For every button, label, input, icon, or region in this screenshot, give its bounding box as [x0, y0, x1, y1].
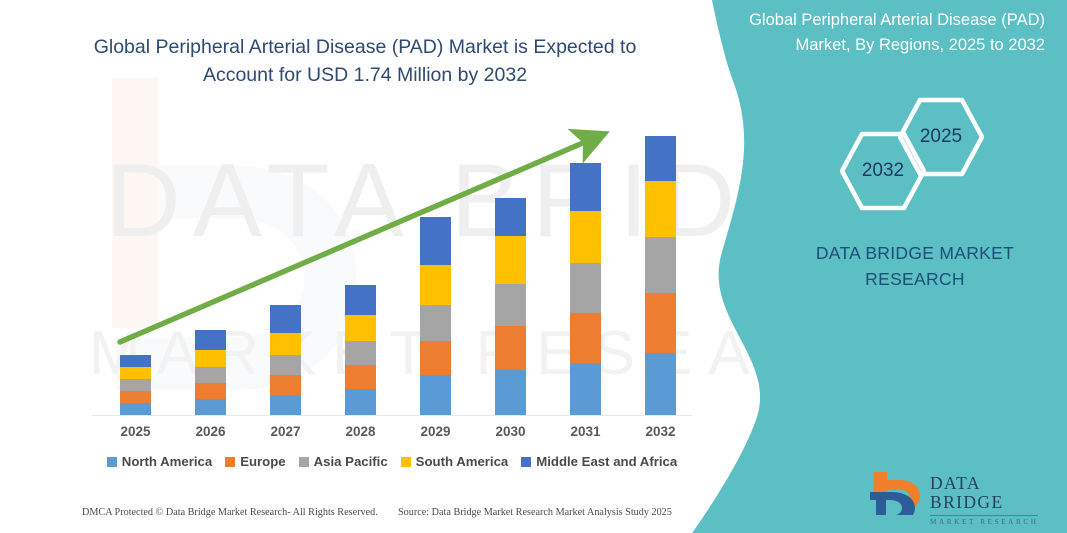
legend-label: Middle East and Africa — [536, 454, 677, 469]
x-axis-label-2029: 2029 — [406, 424, 466, 439]
legend-swatch-icon — [107, 457, 117, 467]
legend-item[interactable]: Middle East and Africa — [521, 454, 677, 469]
x-axis-label-2027: 2027 — [256, 424, 316, 439]
footer-source: Source: Data Bridge Market Research Mark… — [398, 507, 672, 518]
legend-label: North America — [122, 454, 212, 469]
logo-subtitle: MARKET RESEARCH — [930, 518, 1043, 526]
growth-arrow — [92, 115, 692, 415]
legend-swatch-icon — [225, 457, 235, 467]
legend-item[interactable]: North America — [107, 454, 212, 469]
hexagon-2025: 2025 — [898, 97, 984, 177]
legend-item[interactable]: Europe — [225, 454, 285, 469]
legend-label: Asia Pacific — [314, 454, 388, 469]
data-bridge-logo: DATA BRIDGE MARKET RESEARCH — [868, 470, 1043, 518]
logo-divider — [930, 515, 1038, 516]
chart-baseline — [92, 415, 692, 416]
infographic-root: DATA BRIDGE MARKET RESEARCH Global Perip… — [0, 0, 1067, 533]
legend-item[interactable]: South America — [401, 454, 509, 469]
footer-copyright: DMCA Protected © Data Bridge Market Rese… — [82, 507, 378, 518]
x-axis-label-2031: 2031 — [556, 424, 616, 439]
logo-mark-icon — [868, 470, 926, 516]
legend-swatch-icon — [401, 457, 411, 467]
legend-swatch-icon — [521, 457, 531, 467]
x-axis-label-2030: 2030 — [481, 424, 541, 439]
chart-legend: North AmericaEuropeAsia PacificSouth Ame… — [92, 454, 692, 469]
x-axis-label-2028: 2028 — [331, 424, 391, 439]
logo-title: DATA BRIDGE — [930, 474, 1043, 513]
right-panel-title: Global Peripheral Arterial Disease (PAD)… — [735, 8, 1045, 58]
chart-title: Global Peripheral Arterial Disease (PAD)… — [60, 34, 670, 89]
logo-text: DATA BRIDGE MARKET RESEARCH — [930, 474, 1043, 526]
chart-x-axis-labels: 20252026202720282029203020312032 — [92, 424, 692, 444]
legend-item[interactable]: Asia Pacific — [299, 454, 388, 469]
legend-swatch-icon — [299, 457, 309, 467]
x-axis-label-2026: 2026 — [181, 424, 241, 439]
x-axis-label-2025: 2025 — [106, 424, 166, 439]
legend-label: Europe — [240, 454, 285, 469]
hexagon-badges: 2032 2025 — [820, 105, 1000, 215]
panel-brand-text: DATA BRIDGE MARKET RESEARCH — [790, 240, 1040, 293]
hexagon-2025-label: 2025 — [898, 97, 984, 177]
footer: DMCA Protected © Data Bridge Market Rese… — [0, 505, 712, 527]
legend-label: South America — [416, 454, 509, 469]
